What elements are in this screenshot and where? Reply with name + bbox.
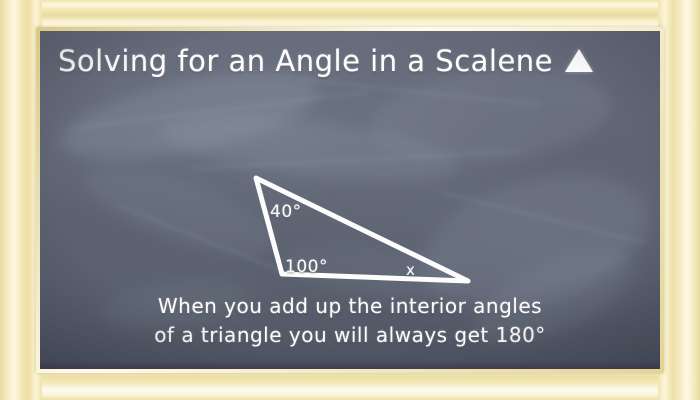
caption-block: When you add up the interior angles of a…	[40, 292, 660, 350]
slide-title-row: Solving for an Angle in a Scalene	[58, 44, 593, 78]
frame-right-rail	[658, 0, 700, 400]
chalkboard: Solving for an Angle in a Scalene 40° 10…	[40, 31, 660, 369]
triangle-up-icon	[565, 49, 593, 72]
caption-line-1: When you add up the interior angles	[40, 292, 660, 321]
page-title: Solving for an Angle in a Scalene	[58, 44, 553, 78]
caption-line-2: of a triangle you will always get 180°	[40, 321, 660, 350]
chalkboard-slide: Solving for an Angle in a Scalene 40° 10…	[0, 0, 700, 400]
